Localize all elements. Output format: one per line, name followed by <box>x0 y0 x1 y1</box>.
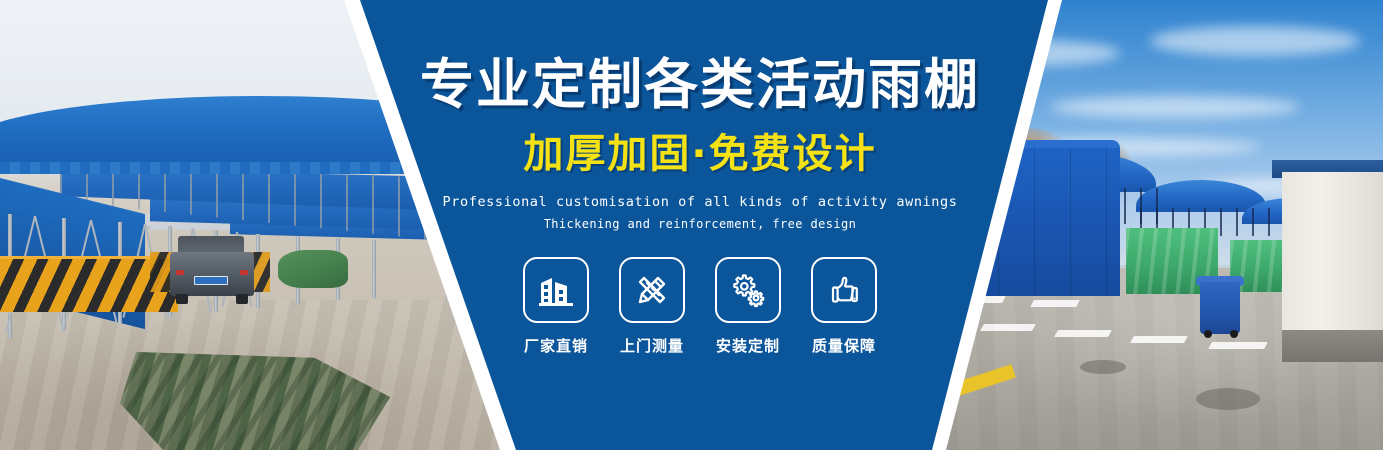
banner-content: 专业定制各类活动雨棚 加厚加固·免费设计 Professional custom… <box>430 0 970 450</box>
banner-subheadline: 加厚加固·免费设计 <box>523 134 876 174</box>
english-tagline-primary: Professional customisation of all kinds … <box>443 194 958 210</box>
feature-label: 安装定制 <box>716 335 780 356</box>
feature-label: 质量保障 <box>812 335 876 356</box>
feature-item-install-custom[interactable]: 安装定制 <box>711 257 785 356</box>
gears-icon <box>715 257 781 323</box>
feature-item-factory-direct[interactable]: 厂家直销 <box>519 257 593 356</box>
pencil-ruler-icon <box>619 257 685 323</box>
page-title: 专业定制各类活动雨棚 <box>420 58 980 112</box>
feature-item-onsite-measure[interactable]: 上门测量 <box>615 257 689 356</box>
feature-item-quality-guarantee[interactable]: 质量保障 <box>807 257 881 356</box>
feature-label: 厂家直销 <box>524 335 588 356</box>
feature-label: 上门测量 <box>620 335 684 356</box>
promo-banner: 专业定制各类活动雨棚 加厚加固·免费设计 Professional custom… <box>0 0 1383 450</box>
english-tagline-secondary: Thickening and reinforcement, free desig… <box>544 217 857 231</box>
feature-list: 厂家直销 上门测量 <box>519 257 881 356</box>
thumbs-up-icon <box>811 257 877 323</box>
building-icon <box>523 257 589 323</box>
